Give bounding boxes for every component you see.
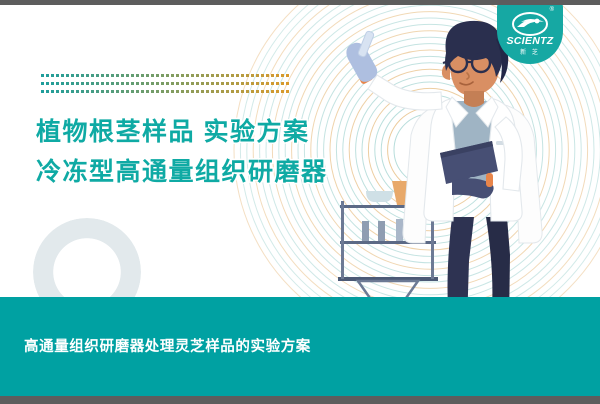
grid-dot — [71, 82, 74, 85]
grid-dot — [161, 74, 164, 77]
grid-dot — [96, 74, 99, 77]
grid-dot — [76, 90, 79, 93]
grid-dot — [121, 74, 124, 77]
grid-dot — [121, 82, 124, 85]
grid-dot — [171, 90, 174, 93]
grid-dot — [116, 82, 119, 85]
grid-dot — [226, 82, 229, 85]
grid-dot — [181, 82, 184, 85]
grid-dot — [286, 74, 289, 77]
grid-dot — [256, 74, 259, 77]
grid-dot — [276, 74, 279, 77]
grid-dot — [261, 82, 264, 85]
grid-dot — [216, 74, 219, 77]
grid-dot — [181, 74, 184, 77]
slide-canvas: 植物根茎样品 实验方案 冷冻型高通量组织研磨器 高通量组织研磨器处理灵芝样品的实… — [0, 0, 600, 404]
grid-dot — [166, 82, 169, 85]
grid-dot — [211, 82, 214, 85]
grid-dot — [176, 90, 179, 93]
grid-dot — [256, 90, 259, 93]
grid-dot — [101, 90, 104, 93]
grid-dot — [141, 90, 144, 93]
grid-dot — [236, 90, 239, 93]
grid-dot — [96, 82, 99, 85]
grid-dot — [81, 90, 84, 93]
grid-dot — [121, 90, 124, 93]
grid-dot — [146, 82, 149, 85]
grid-dot — [126, 90, 129, 93]
grid-dot — [106, 82, 109, 85]
grid-dot — [251, 90, 254, 93]
grid-dot — [246, 90, 249, 93]
grid-dot — [186, 82, 189, 85]
logo-chinese-name: 新 芝 — [497, 47, 563, 56]
grid-dot — [81, 82, 84, 85]
grid-dot — [41, 90, 44, 93]
scientist-body — [403, 97, 542, 325]
grid-dot — [141, 82, 144, 85]
grid-dot — [131, 90, 134, 93]
grid-dot — [286, 90, 289, 93]
grid-dot — [266, 74, 269, 77]
grid-dot — [76, 82, 79, 85]
grid-dot — [206, 82, 209, 85]
grid-dot — [246, 82, 249, 85]
grid-dot — [231, 82, 234, 85]
grid-dot — [126, 82, 129, 85]
grid-dot — [166, 74, 169, 77]
grid-dot — [41, 82, 44, 85]
grid-dot — [186, 74, 189, 77]
grid-dot — [216, 90, 219, 93]
grid-dot — [221, 90, 224, 93]
grid-dot — [226, 74, 229, 77]
grid-dot — [221, 82, 224, 85]
grid-dot — [111, 74, 114, 77]
grid-dot — [201, 90, 204, 93]
grid-dot — [71, 74, 74, 77]
grid-dot — [236, 74, 239, 77]
grid-dot — [151, 90, 154, 93]
grid-dot — [151, 74, 154, 77]
grid-dot — [196, 74, 199, 77]
grid-dot — [91, 90, 94, 93]
grid-dot — [66, 74, 69, 77]
grid-dot — [111, 82, 114, 85]
grid-dot — [86, 82, 89, 85]
grid-dot — [56, 90, 59, 93]
grid-dot — [61, 82, 64, 85]
dot-grid-decoration — [41, 74, 291, 98]
grid-dot — [266, 82, 269, 85]
grid-dot — [91, 82, 94, 85]
grid-dot — [171, 74, 174, 77]
grid-dot — [221, 74, 224, 77]
grid-dot — [66, 82, 69, 85]
grid-dot — [91, 74, 94, 77]
grid-dot — [176, 74, 179, 77]
banner-caption-text: 高通量组织研磨器处理灵芝样品的实验方案 — [24, 335, 311, 356]
slide-content: 植物根茎样品 实验方案 冷冻型高通量组织研磨器 高通量组织研磨器处理灵芝样品的实… — [0, 5, 600, 396]
grid-dot — [76, 74, 79, 77]
grid-dot — [141, 74, 144, 77]
grid-dot — [181, 90, 184, 93]
grid-dot — [46, 82, 49, 85]
page-title: 植物根茎样品 实验方案 冷冻型高通量组织研磨器 — [36, 112, 328, 192]
grid-dot — [166, 90, 169, 93]
grid-dot — [251, 74, 254, 77]
grid-dot — [136, 82, 139, 85]
grid-dot — [231, 90, 234, 93]
grid-dot — [116, 74, 119, 77]
grid-dot — [241, 74, 244, 77]
grid-dot — [276, 90, 279, 93]
grid-dot — [191, 74, 194, 77]
scientz-logo[interactable]: ® SCIENTZ 新 芝 — [497, 5, 563, 64]
grid-dot — [51, 82, 54, 85]
grid-dot — [51, 74, 54, 77]
grid-dot — [56, 74, 59, 77]
logo-wordmark: SCIENTZ — [497, 35, 563, 47]
grid-dot — [96, 90, 99, 93]
grid-dot — [206, 74, 209, 77]
raised-arm-with-test-tube — [346, 30, 442, 110]
grid-dot — [46, 74, 49, 77]
grid-dot — [131, 74, 134, 77]
grid-dot — [241, 90, 244, 93]
grid-dot — [86, 74, 89, 77]
grid-dot — [261, 74, 264, 77]
grid-dot — [171, 82, 174, 85]
grid-dot — [151, 82, 154, 85]
grid-dot — [111, 90, 114, 93]
grid-dot — [281, 82, 284, 85]
grid-dot — [71, 90, 74, 93]
grid-dot — [61, 90, 64, 93]
title-line-1: 植物根茎样品 实验方案 — [36, 112, 328, 152]
grid-dot — [191, 82, 194, 85]
grid-dot — [61, 74, 64, 77]
grid-dot — [81, 74, 84, 77]
grid-dot — [276, 82, 279, 85]
grid-dot — [131, 82, 134, 85]
grid-dot — [186, 90, 189, 93]
bottom-caption-banner: 高通量组织研磨器处理灵芝样品的实验方案 — [0, 297, 600, 396]
grid-dot — [66, 90, 69, 93]
grid-dot — [206, 90, 209, 93]
window-chrome-bottom-bar — [0, 396, 600, 404]
grid-dot — [271, 74, 274, 77]
grid-dot — [251, 82, 254, 85]
grid-dot — [271, 90, 274, 93]
grid-dot — [136, 74, 139, 77]
grid-dot — [46, 90, 49, 93]
grid-dot — [86, 90, 89, 93]
grid-dot — [196, 90, 199, 93]
grid-dot — [146, 74, 149, 77]
grid-dot — [101, 82, 104, 85]
grid-dot — [51, 90, 54, 93]
grid-dot — [241, 82, 244, 85]
grid-dot — [156, 90, 159, 93]
title-line-2: 冷冻型高通量组织研磨器 — [36, 152, 328, 192]
grid-dot — [146, 90, 149, 93]
grid-dot — [161, 90, 164, 93]
grid-dot — [271, 82, 274, 85]
grid-dot — [261, 90, 264, 93]
grid-dot — [281, 90, 284, 93]
grid-dot — [106, 74, 109, 77]
grid-dot — [266, 90, 269, 93]
registered-trademark-mark: ® — [550, 7, 554, 13]
grid-dot — [281, 74, 284, 77]
grid-dot — [191, 90, 194, 93]
grid-dot — [201, 74, 204, 77]
grid-dot — [126, 74, 129, 77]
grid-dot — [106, 90, 109, 93]
grid-dot — [176, 82, 179, 85]
grid-dot — [41, 74, 44, 77]
grid-dot — [161, 82, 164, 85]
grid-dot — [56, 82, 59, 85]
grid-dot — [211, 90, 214, 93]
grid-dot — [136, 90, 139, 93]
grid-dot — [256, 82, 259, 85]
grid-dot — [156, 82, 159, 85]
grid-dot — [116, 90, 119, 93]
grid-dot — [101, 74, 104, 77]
grid-dot — [226, 90, 229, 93]
grid-dot — [196, 82, 199, 85]
grid-dot — [201, 82, 204, 85]
grid-dot — [286, 82, 289, 85]
grid-dot — [211, 74, 214, 77]
grid-dot — [216, 82, 219, 85]
grid-dot — [156, 74, 159, 77]
grid-dot — [236, 82, 239, 85]
grid-dot — [246, 74, 249, 77]
grid-dot — [231, 74, 234, 77]
